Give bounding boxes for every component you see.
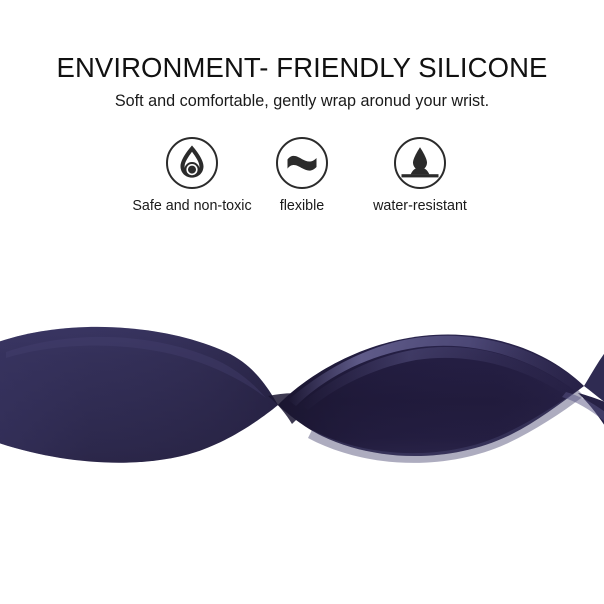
feature-item-water-resistant: water-resistant [340,136,500,215]
page-title: ENVIRONMENT- FRIENDLY SILICONE [0,52,604,84]
flame-droplet-icon [165,136,219,190]
feature-item-label: water-resistant [340,197,500,215]
product-feature-banner: ENVIRONMENT- FRIENDLY SILICONE Soft and … [0,0,604,604]
product-image-twisted-silicone-band [0,300,604,500]
water-droplet-surface-icon [393,136,447,190]
feature-list: Safe and non-toxic flexible [0,136,604,226]
page-subtitle: Soft and comfortable, gently wrap aronud… [0,91,604,111]
wavy-flag-icon [275,136,329,190]
